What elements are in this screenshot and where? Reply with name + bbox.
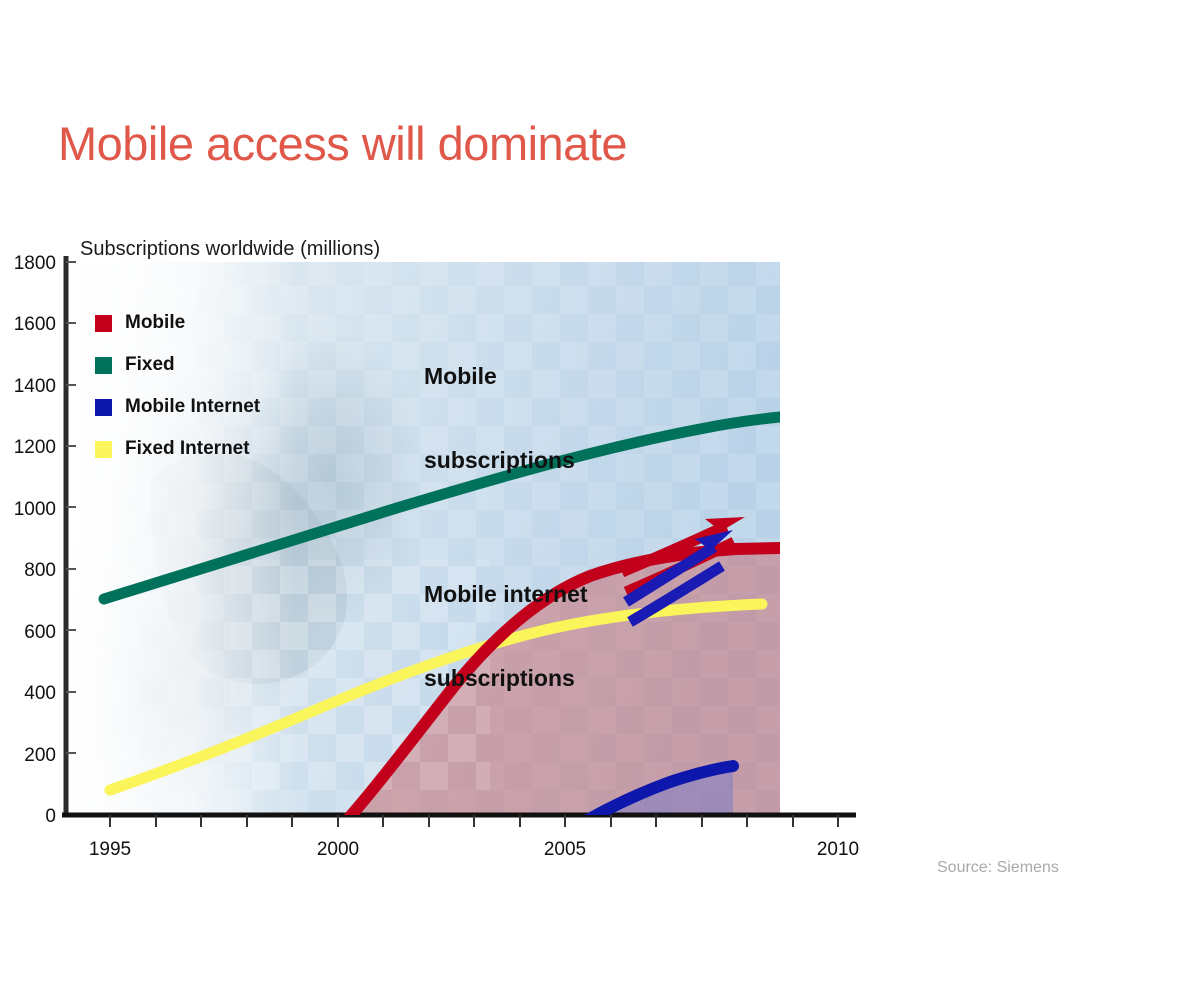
- legend-item-fixed-internet[interactable]: Fixed Internet: [95, 428, 260, 470]
- annotation-mobile-internet-line1: Mobile internet: [424, 580, 588, 608]
- chart-container: 1800 1600 1400 1200 1000 800 600 400 200…: [0, 230, 900, 880]
- x-tick-2000: 2000: [317, 839, 359, 860]
- legend-label-fixed: Fixed: [125, 354, 175, 376]
- y-tick-1200: 1200: [14, 437, 56, 458]
- annotation-mobile-internet-line2: subscriptions: [424, 664, 588, 692]
- y-tick-200: 200: [24, 745, 56, 766]
- legend-swatch-mobile-internet: [95, 399, 112, 416]
- annotation-mobile-subscriptions: Mobile subscriptions: [424, 306, 575, 530]
- y-tick-400: 400: [24, 683, 56, 704]
- legend-swatch-fixed: [95, 357, 112, 374]
- y-tick-1400: 1400: [14, 376, 56, 397]
- legend-item-mobile-internet[interactable]: Mobile Internet: [95, 386, 260, 428]
- chart-subtitle: Subscriptions worldwide (millions): [80, 238, 380, 261]
- x-tick-1995: 1995: [89, 839, 131, 860]
- y-tick-1000: 1000: [14, 499, 56, 520]
- legend-item-fixed[interactable]: Fixed: [95, 344, 260, 386]
- legend-label-mobile-internet: Mobile Internet: [125, 396, 260, 418]
- slide-canvas: Mobile access will dominate: [0, 0, 1200, 981]
- x-tick-2005: 2005: [544, 839, 586, 860]
- y-axis-tick-labels: 1800 1600 1400 1200 1000 800 600 400 200…: [14, 253, 56, 827]
- y-tick-0: 0: [45, 806, 56, 827]
- y-tick-800: 800: [24, 560, 56, 581]
- annotation-mobile-line2: subscriptions: [424, 446, 575, 474]
- annotation-mobile-internet-subscriptions: Mobile internet subscriptions: [424, 524, 588, 748]
- source-attribution: Source: Siemens: [937, 859, 1059, 877]
- annotation-mobile-line1: Mobile: [424, 362, 575, 390]
- legend-swatch-fixed-internet: [95, 441, 112, 458]
- page-title: Mobile access will dominate: [58, 116, 627, 171]
- legend-item-mobile[interactable]: Mobile: [95, 302, 260, 344]
- y-tick-600: 600: [24, 622, 56, 643]
- chart-legend: Mobile Fixed Mobile Internet Fixed Inter…: [95, 302, 260, 470]
- x-axis-tick-labels: 1995 2000 2005 2010: [89, 839, 859, 860]
- y-tick-1800: 1800: [14, 253, 56, 274]
- x-tick-2010: 2010: [817, 839, 859, 860]
- y-tick-1600: 1600: [14, 314, 56, 335]
- legend-swatch-mobile: [95, 315, 112, 332]
- legend-label-mobile: Mobile: [125, 312, 185, 334]
- legend-label-fixed-internet: Fixed Internet: [125, 438, 250, 460]
